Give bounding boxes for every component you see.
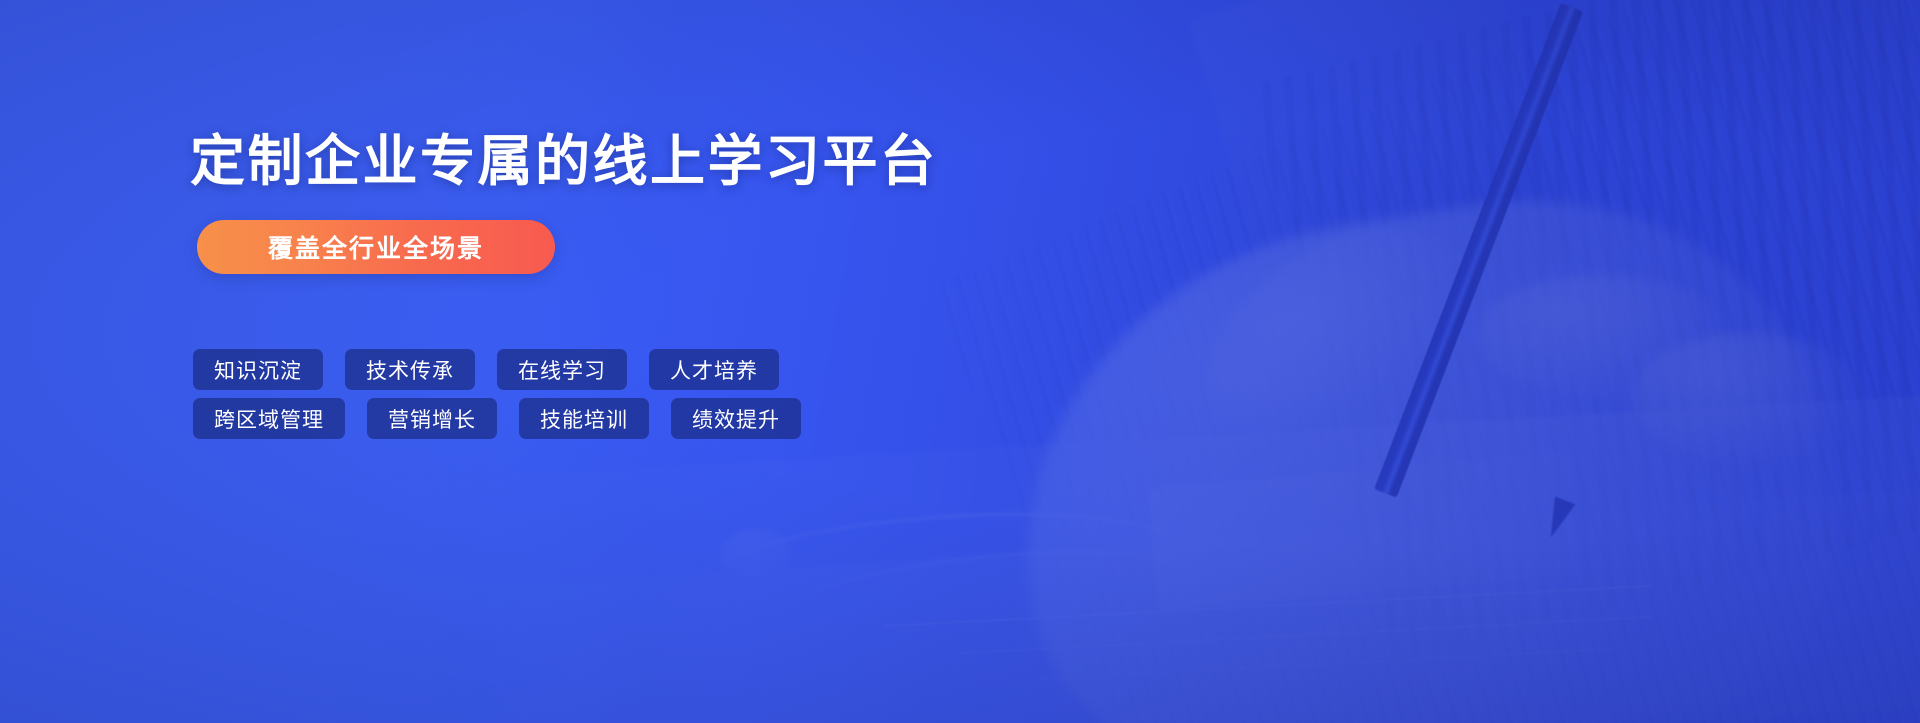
hero-banner: 定制企业专属的线上学习平台 覆盖全行业全场景 知识沉淀 技术传承 在线学习 人才… bbox=[0, 0, 1920, 723]
tag-jinengpeixun[interactable]: 技能培训 bbox=[519, 398, 649, 439]
tag-zhishichendian[interactable]: 知识沉淀 bbox=[193, 349, 323, 390]
cta-pill-label: 覆盖全行业全场景 bbox=[268, 229, 484, 265]
tag-rencaipeiyang[interactable]: 人才培养 bbox=[649, 349, 779, 390]
tag-zaixianxuexi[interactable]: 在线学习 bbox=[497, 349, 627, 390]
tag-row: 知识沉淀 技术传承 在线学习 人才培养 bbox=[193, 349, 801, 390]
banner-content: 定制企业专属的线上学习平台 覆盖全行业全场景 知识沉淀 技术传承 在线学习 人才… bbox=[0, 0, 1920, 723]
page-title: 定制企业专属的线上学习平台 bbox=[190, 131, 938, 192]
tag-list: 知识沉淀 技术传承 在线学习 人才培养 跨区域管理 营销增长 技能培训 绩效提升 bbox=[193, 349, 801, 439]
tag-jixiaotisheng[interactable]: 绩效提升 bbox=[671, 398, 801, 439]
cta-pill-button[interactable]: 覆盖全行业全场景 bbox=[197, 220, 555, 274]
tag-yingxiaozengzhang[interactable]: 营销增长 bbox=[367, 398, 497, 439]
tag-kuaquyuguanli[interactable]: 跨区域管理 bbox=[193, 398, 345, 439]
tag-row: 跨区域管理 营销增长 技能培训 绩效提升 bbox=[193, 398, 801, 439]
tag-jishuchuancheng[interactable]: 技术传承 bbox=[345, 349, 475, 390]
